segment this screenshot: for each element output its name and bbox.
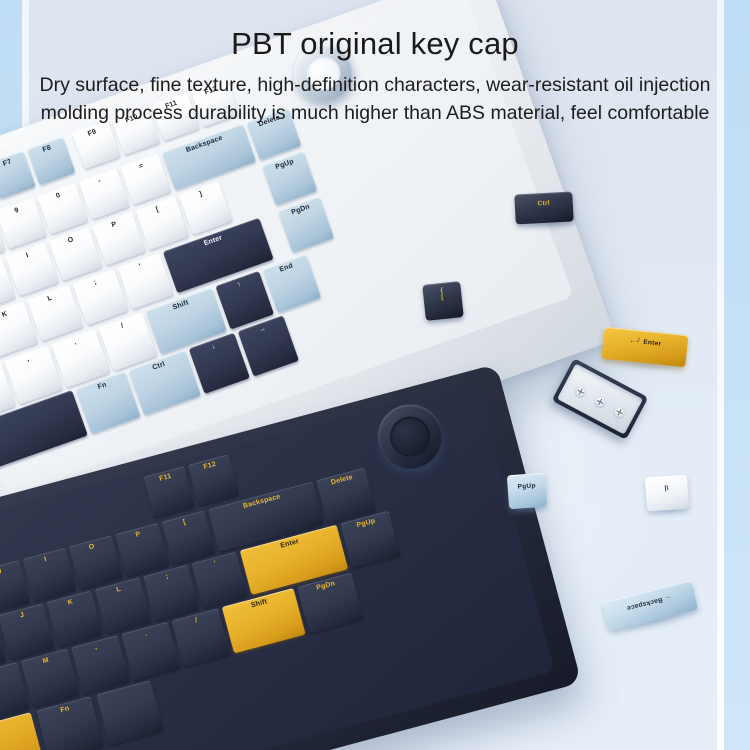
loose-bracket-keycap[interactable]: { [: [422, 281, 464, 321]
keycap-top-face: PgUp: [507, 473, 547, 510]
knob-face: [385, 412, 435, 462]
header-block: PBT original key cap Dry surface, fine t…: [0, 0, 750, 128]
keycap-top-face: |\: [645, 475, 689, 512]
page-subtitle: Dry surface, fine texture, high-definiti…: [0, 72, 750, 128]
loose-pgup-keycap[interactable]: PgUp: [507, 473, 547, 510]
keycap-top-face: { [: [422, 281, 464, 321]
cross-stem-icon: [593, 394, 608, 409]
cross-stem-icon: [573, 384, 588, 399]
page-title: PBT original key cap: [0, 27, 750, 61]
loose-ctrl-keycap[interactable]: Ctrl: [514, 192, 573, 225]
cross-stem-icon: [612, 405, 627, 420]
keycap-top-face: Ctrl: [514, 192, 573, 225]
loose-pipe-keycap[interactable]: |\: [645, 475, 689, 512]
product-image-stage: F5 F6 F7 F8 F9 F10 F11 F12 7 8 9 0 - = B…: [0, 0, 750, 750]
